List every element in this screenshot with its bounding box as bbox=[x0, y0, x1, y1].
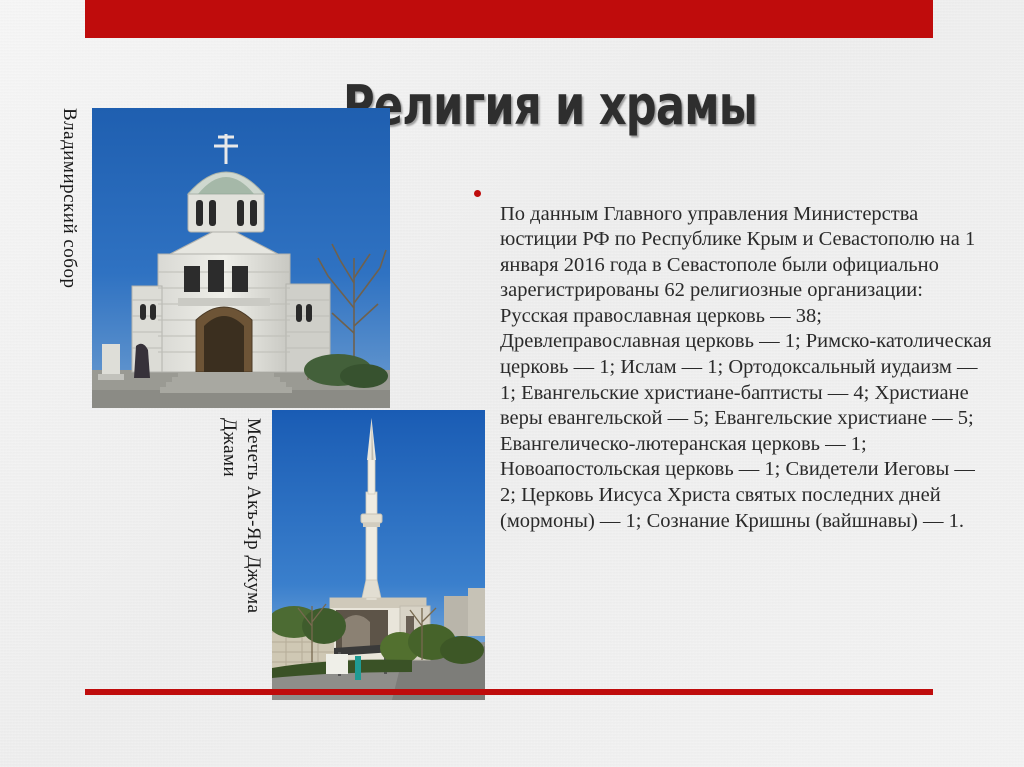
caption-line-2: Джами bbox=[217, 418, 241, 614]
photo-ak-yar-juma-jami-mosque bbox=[272, 410, 485, 700]
top-accent-bar bbox=[85, 0, 933, 38]
caption-vladimir-cathedral: Владимирский собор bbox=[58, 108, 80, 288]
presentation-slide: Религия и храмы bbox=[0, 0, 1024, 767]
bottom-accent-rule bbox=[85, 689, 933, 695]
caption-line-1: Мечеть Акъ-Яр Джума bbox=[241, 418, 265, 614]
list-item: По данным Главного управления Министерст… bbox=[474, 181, 994, 555]
bullet-text: По данным Главного управления Министерст… bbox=[500, 202, 994, 535]
mosque-illustration bbox=[272, 410, 485, 700]
content-body: По данным Главного управления Министерст… bbox=[474, 181, 994, 555]
photo-vladimir-cathedral bbox=[92, 108, 390, 408]
cathedral-illustration bbox=[92, 108, 390, 408]
caption-ak-yar-juma-jami-mosque: Мечеть Акъ-Яр Джума Джами bbox=[217, 418, 265, 614]
bullet-point-icon bbox=[474, 181, 500, 197]
